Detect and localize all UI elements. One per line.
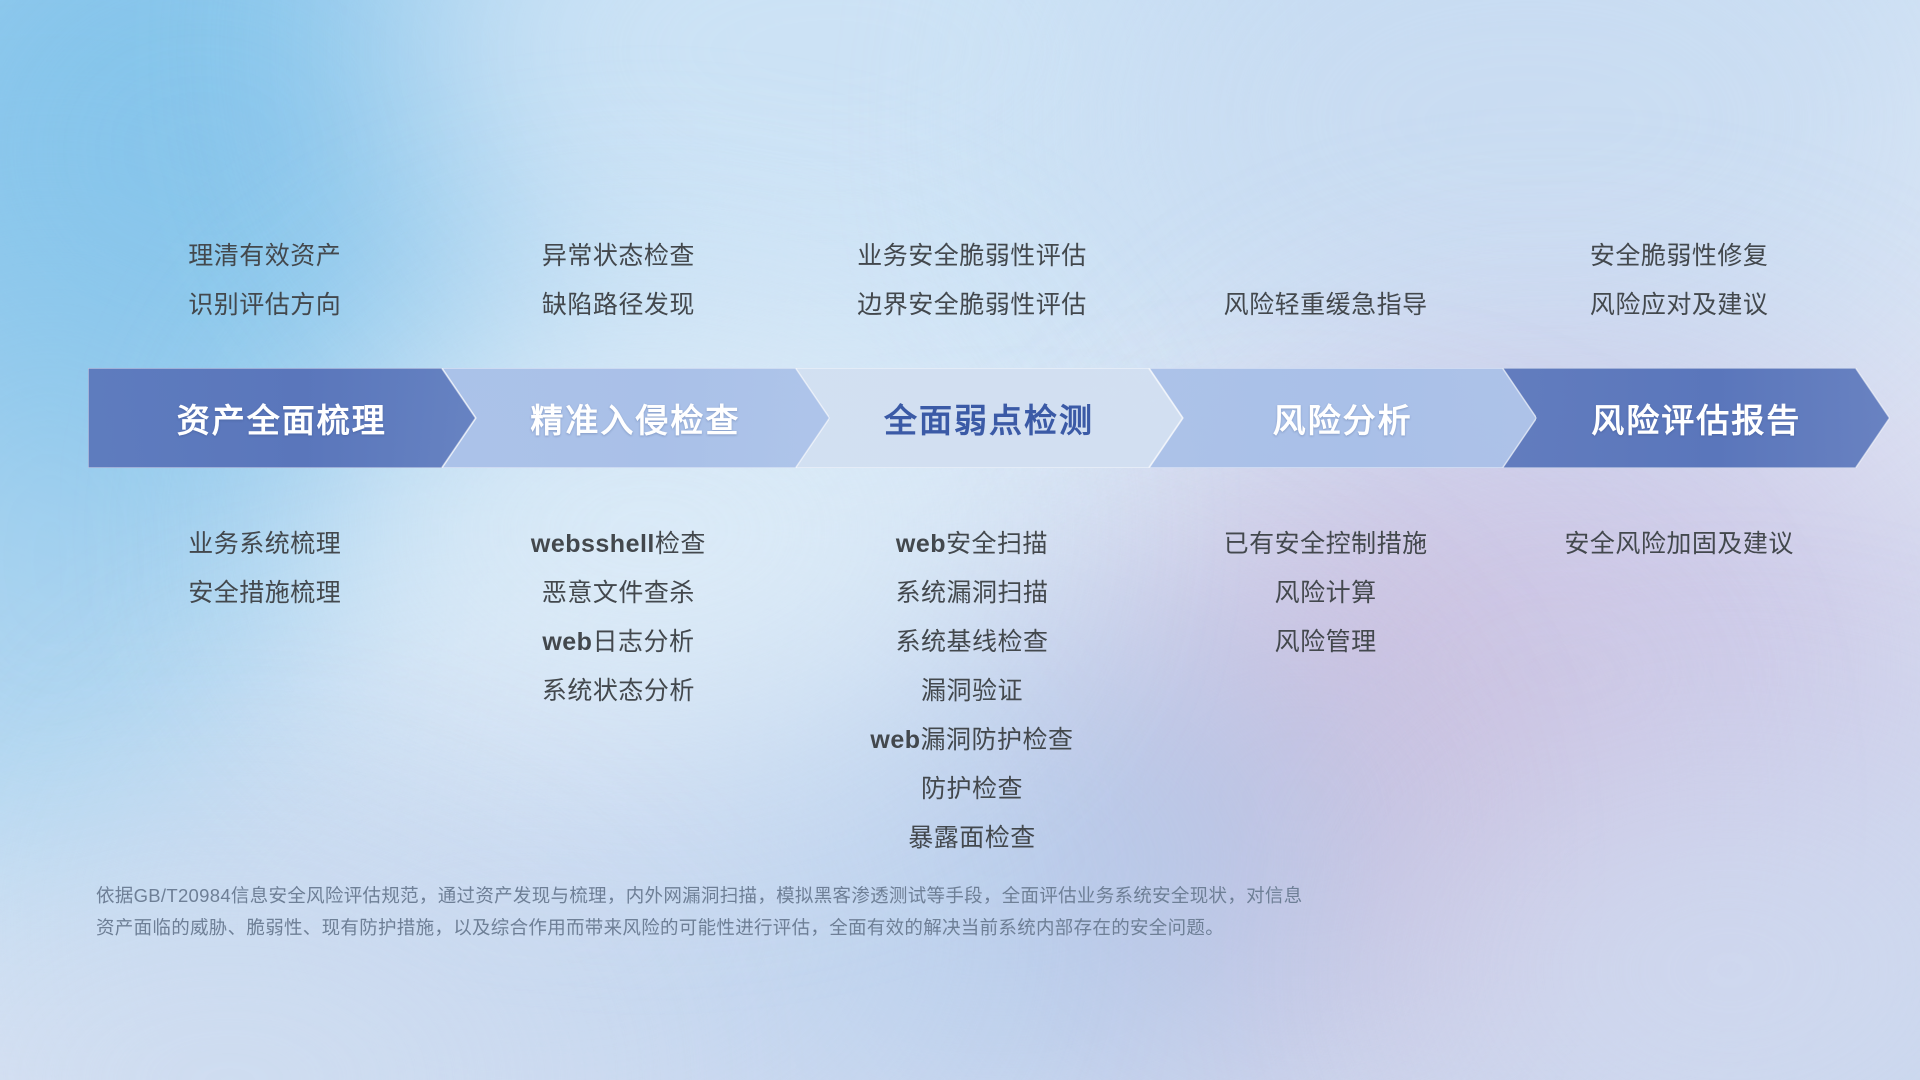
stage-title: 精准入侵检查 xyxy=(530,394,740,442)
bottom-item: web漏洞防护检查 xyxy=(795,716,1149,765)
bottom-item: 安全措施梳理 xyxy=(88,569,442,618)
bottom-item: 已有安全控制措施 xyxy=(1149,520,1503,569)
bottom-column-asset-inventory: 业务系统梳理安全措施梳理 xyxy=(88,520,442,618)
bottom-item: 系统基线检查 xyxy=(795,618,1149,667)
top-item: 风险轻重缓急指导 xyxy=(1149,281,1503,330)
top-item: 业务安全脆弱性评估 xyxy=(795,232,1149,281)
bottom-item: 系统状态分析 xyxy=(442,667,796,716)
bottom-item: 暴露面检查 xyxy=(795,814,1149,863)
bottom-item: 漏洞验证 xyxy=(795,667,1149,716)
bottom-item: web日志分析 xyxy=(442,618,796,667)
process-chevron-band: 资产全面梳理精准入侵检查全面弱点检测风险分析风险评估报告 xyxy=(0,368,1920,468)
bottom-item: websshell检查 xyxy=(442,520,796,569)
bottom-item: 恶意文件查杀 xyxy=(442,569,796,618)
top-item: 异常状态检查 xyxy=(442,232,796,281)
bottom-item: 业务系统梳理 xyxy=(88,520,442,569)
bottom-column-risk-report: 安全风险加固及建议 xyxy=(1502,520,1856,569)
top-item: 理清有效资产 xyxy=(88,232,442,281)
process-stage-risk-report[interactable]: 风险评估报告 xyxy=(1502,368,1890,468)
bottom-column-intrusion-check: websshell检查恶意文件查杀web日志分析系统状态分析 xyxy=(442,520,796,716)
process-stage-intrusion-check[interactable]: 精准入侵检查 xyxy=(442,368,830,468)
top-item: 缺陷路径发现 xyxy=(442,281,796,330)
bottom-column-weakness-detection: web安全扫描系统漏洞扫描系统基线检查漏洞验证web漏洞防护检查防护检查暴露面检… xyxy=(795,520,1149,863)
bottom-item: 防护检查 xyxy=(795,765,1149,814)
top-column-asset-inventory: 理清有效资产识别评估方向 xyxy=(88,232,442,330)
stage-title: 资产全面梳理 xyxy=(177,394,387,442)
footer-line-2: 资产面临的威胁、脆弱性、现有防护措施，以及综合作用而带来风险的可能性进行评估，全… xyxy=(96,912,1656,944)
process-infographic: 理清有效资产识别评估方向异常状态检查缺陷路径发现业务安全脆弱性评估边界安全脆弱性… xyxy=(0,0,1920,1080)
stage-title: 全面弱点检测 xyxy=(884,394,1094,442)
process-stage-risk-analysis[interactable]: 风险分析 xyxy=(1149,368,1537,468)
bottom-column-risk-analysis: 已有安全控制措施风险计算风险管理 xyxy=(1149,520,1503,667)
top-item: 识别评估方向 xyxy=(88,281,442,330)
bottom-item: web安全扫描 xyxy=(795,520,1149,569)
top-item: 风险应对及建议 xyxy=(1502,281,1856,330)
bottom-item: 风险计算 xyxy=(1149,569,1503,618)
footer-line-1: 依据GB/T20984信息安全风险评估规范，通过资产发现与梳理，内外网漏洞扫描，… xyxy=(96,880,1656,912)
stage-title: 风险分析 xyxy=(1273,394,1413,442)
top-item: 安全脆弱性修复 xyxy=(1502,232,1856,281)
process-stage-asset-inventory[interactable]: 资产全面梳理 xyxy=(88,368,476,468)
top-item: 边界安全脆弱性评估 xyxy=(795,281,1149,330)
top-column-intrusion-check: 异常状态检查缺陷路径发现 xyxy=(442,232,796,330)
top-column-risk-report: 安全脆弱性修复风险应对及建议 xyxy=(1502,232,1856,330)
bottom-item: 系统漏洞扫描 xyxy=(795,569,1149,618)
top-column-weakness-detection: 业务安全脆弱性评估边界安全脆弱性评估 xyxy=(795,232,1149,330)
process-stage-weakness-detection[interactable]: 全面弱点检测 xyxy=(795,368,1183,468)
footer-description: 依据GB/T20984信息安全风险评估规范，通过资产发现与梳理，内外网漏洞扫描，… xyxy=(96,880,1656,944)
stage-title: 风险评估报告 xyxy=(1591,394,1801,442)
top-column-risk-analysis: 风险轻重缓急指导 xyxy=(1149,281,1503,330)
bottom-item: 风险管理 xyxy=(1149,618,1503,667)
bottom-item: 安全风险加固及建议 xyxy=(1502,520,1856,569)
